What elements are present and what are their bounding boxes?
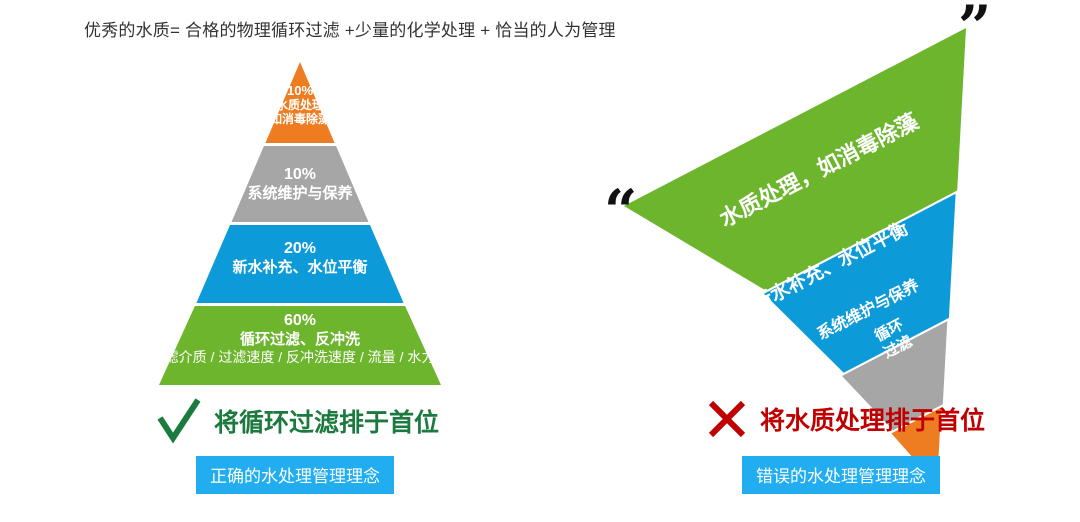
- left-level-2-shape[interactable]: [232, 146, 369, 222]
- check-mark-icon: [156, 398, 202, 444]
- right-caption-text: 将水质处理排于首位: [760, 401, 985, 437]
- left-level-4-shape[interactable]: [159, 306, 441, 385]
- left-caption-row: 将循环过滤排于首位: [156, 398, 439, 444]
- right-caption-pill[interactable]: 错误的水处理管理理念: [742, 456, 940, 494]
- left-caption-pill[interactable]: 正确的水处理管理理念: [196, 456, 394, 494]
- left-caption-text: 将循环过滤排于首位: [214, 403, 439, 439]
- slide-canvas: 优秀的水质= 合格的物理循环过滤 +少量的化学处理 + 恰当的人为管理: [0, 0, 1080, 522]
- left-pyramid: [159, 62, 441, 385]
- left-level-3-shape[interactable]: [196, 225, 403, 303]
- right-caption-row: 将水质处理排于首位: [706, 398, 985, 440]
- cross-mark-icon: [706, 398, 748, 440]
- left-level-1-shape[interactable]: [265, 62, 334, 143]
